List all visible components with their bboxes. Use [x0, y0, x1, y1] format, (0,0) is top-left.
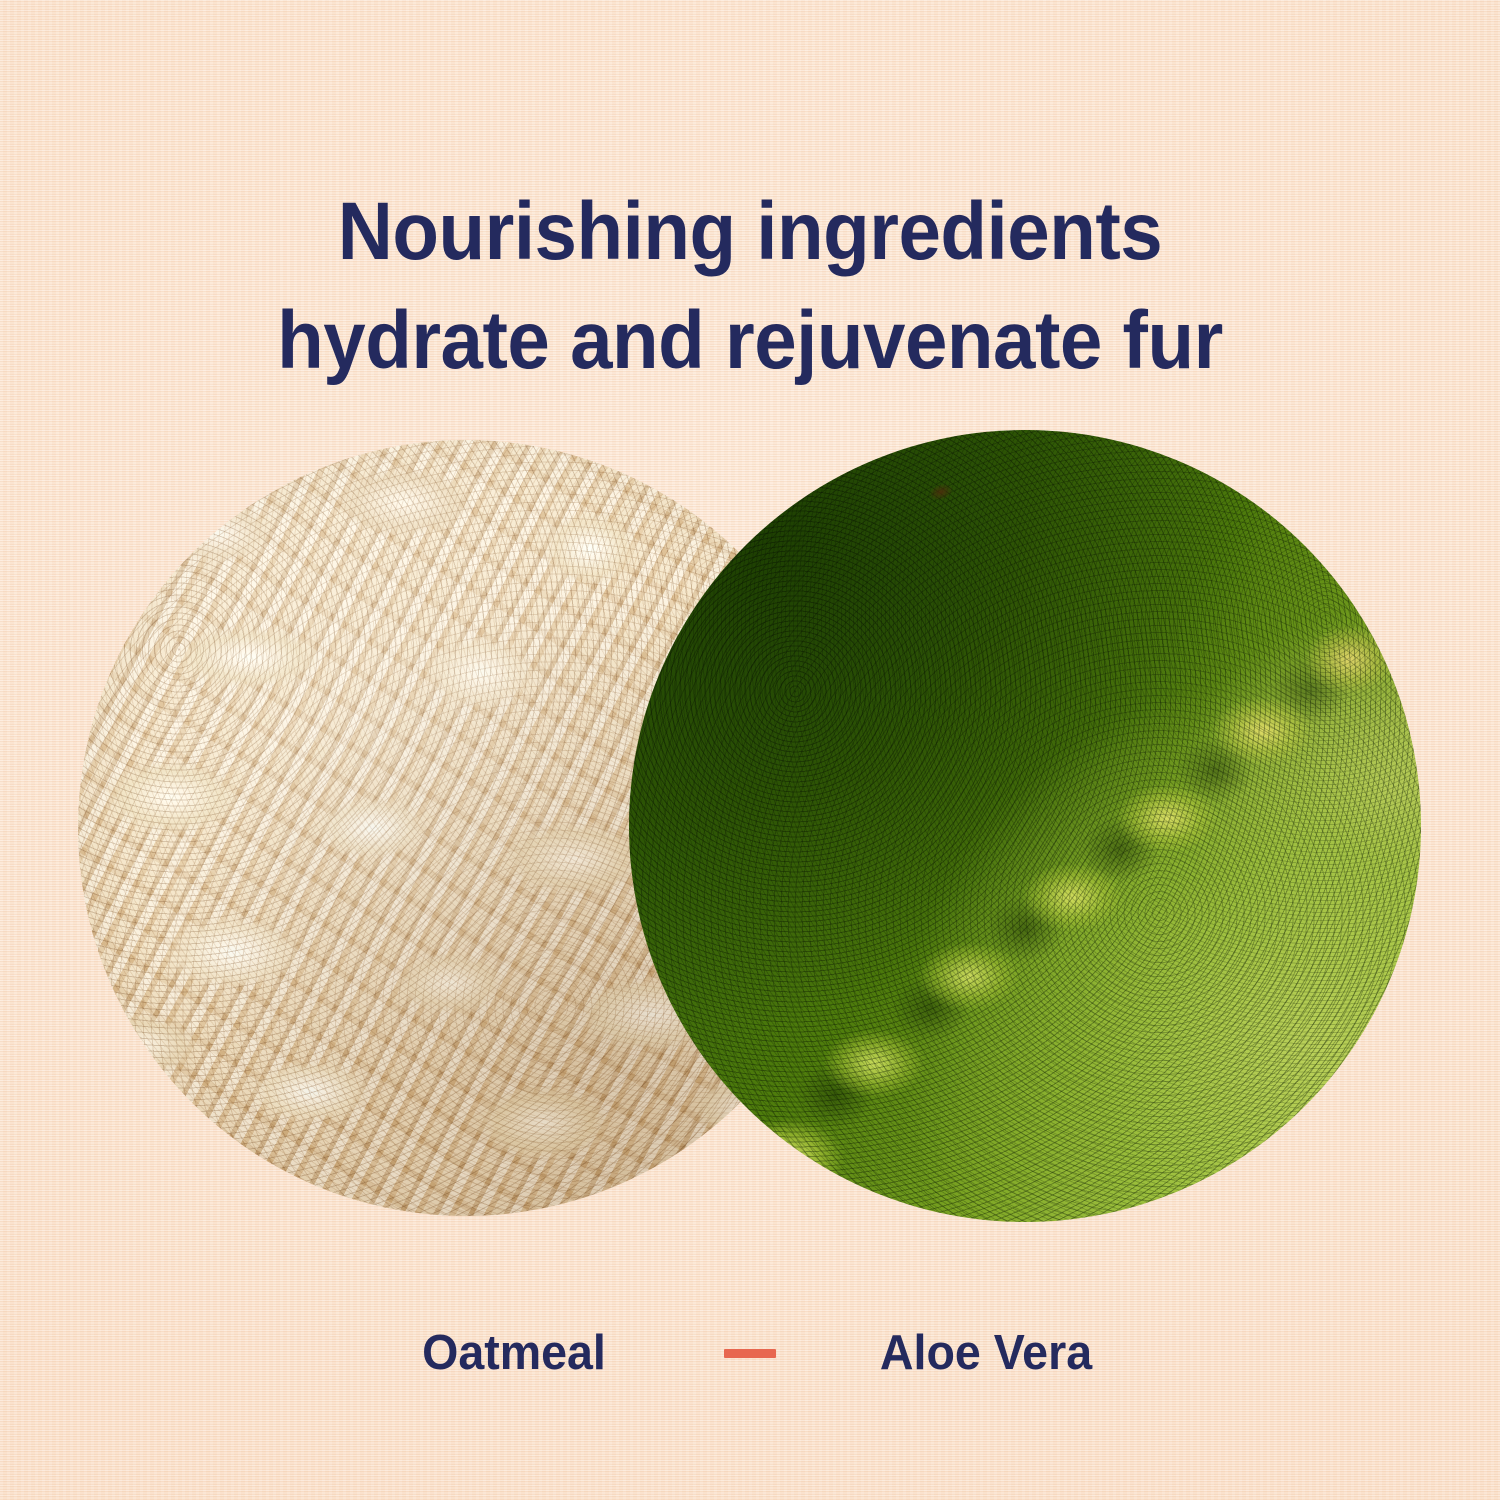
aloe-vera-image-circle: [629, 430, 1421, 1222]
caption-label-aloe-vera: Aloe Vera: [787, 1325, 1186, 1381]
ingredient-highlight-card: Nourishing ingredients hydrate and rejuv…: [0, 0, 1500, 1500]
ingredient-caption-row: Oatmeal Aloe Vera: [0, 1325, 1500, 1381]
ingredient-image-group: [0, 0, 1500, 1500]
caption-separator-dash: [724, 1349, 776, 1358]
caption-label-oatmeal: Oatmeal: [315, 1325, 714, 1381]
aloe-grain-overlay: [629, 430, 1421, 1222]
